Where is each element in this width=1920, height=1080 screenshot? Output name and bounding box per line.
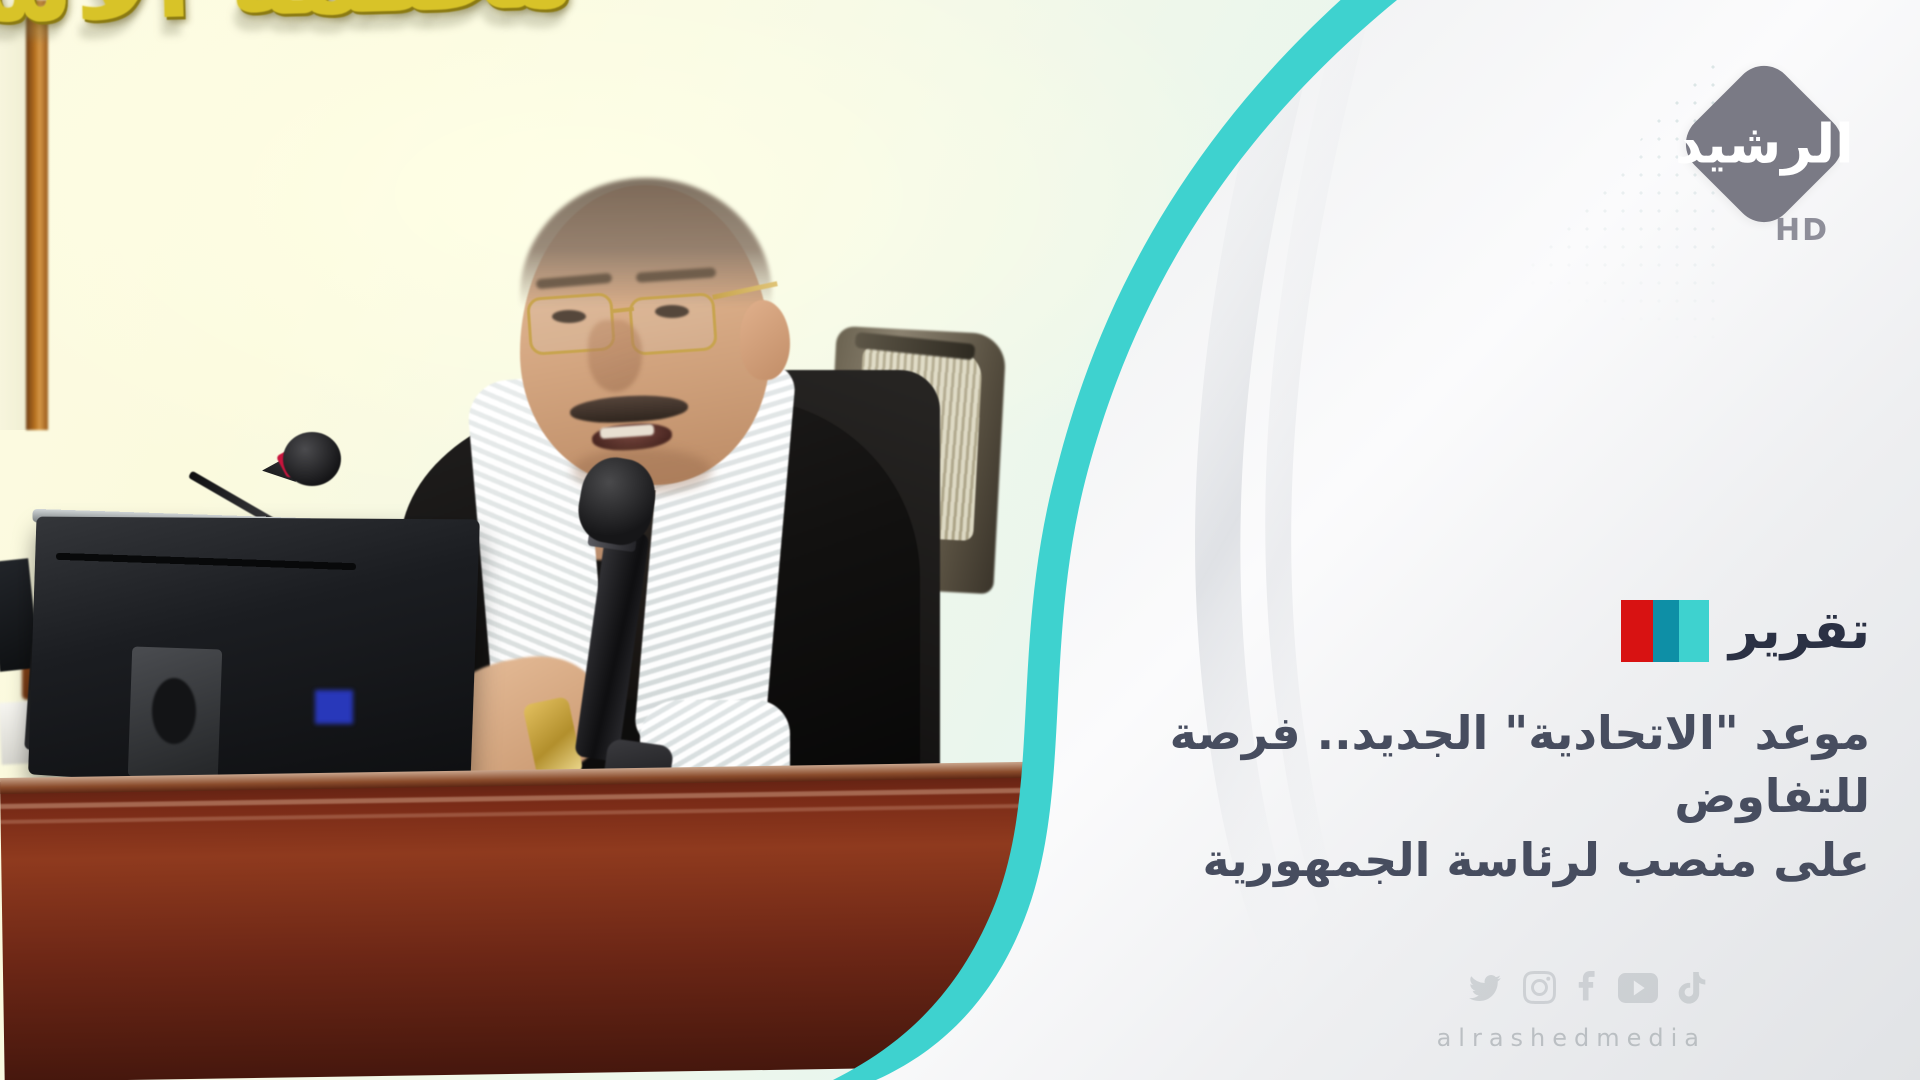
monitor-indicator-light bbox=[315, 690, 353, 724]
category-badge: تقرير bbox=[1621, 600, 1870, 662]
channel-logo-text: الرشيد bbox=[1675, 117, 1854, 171]
youtube-icon bbox=[1618, 973, 1658, 1007]
twitter-icon bbox=[1467, 972, 1503, 1008]
hd-quality-badge: HD bbox=[1775, 213, 1829, 248]
headline: موعد "الاتحادية" الجديد.. فرصة للتفاوض ع… bbox=[1040, 702, 1870, 892]
badge-bar-teal bbox=[1653, 600, 1679, 662]
instagram-icon bbox=[1523, 971, 1556, 1008]
headline-line-1: موعد "الاتحادية" الجديد.. فرصة للتفاوض bbox=[1170, 706, 1870, 823]
badge-bar-cyan bbox=[1679, 600, 1709, 662]
facebook-icon bbox=[1576, 971, 1598, 1008]
broadcast-frame: محكمة الاستئناف محكمة الاستئناف bbox=[0, 0, 1920, 1080]
headline-line-2: على منصب لرئاسة الجمهورية bbox=[1040, 829, 1870, 892]
monitor-stand-cutout bbox=[152, 678, 196, 744]
category-badge-label: تقرير bbox=[1729, 605, 1870, 657]
video-frame: محكمة الاستئناف محكمة الاستئناف bbox=[0, 0, 1920, 1080]
hair bbox=[520, 178, 772, 308]
badge-color-bars bbox=[1621, 600, 1709, 662]
ear bbox=[740, 300, 790, 380]
social-icon-row bbox=[1467, 971, 1706, 1008]
badge-bar-red bbox=[1621, 600, 1653, 662]
tiktok-icon bbox=[1678, 972, 1706, 1008]
nose bbox=[588, 320, 642, 392]
social-handle: alrashedmedia bbox=[1437, 1024, 1706, 1052]
gooseneck-microphone-head bbox=[283, 432, 341, 486]
